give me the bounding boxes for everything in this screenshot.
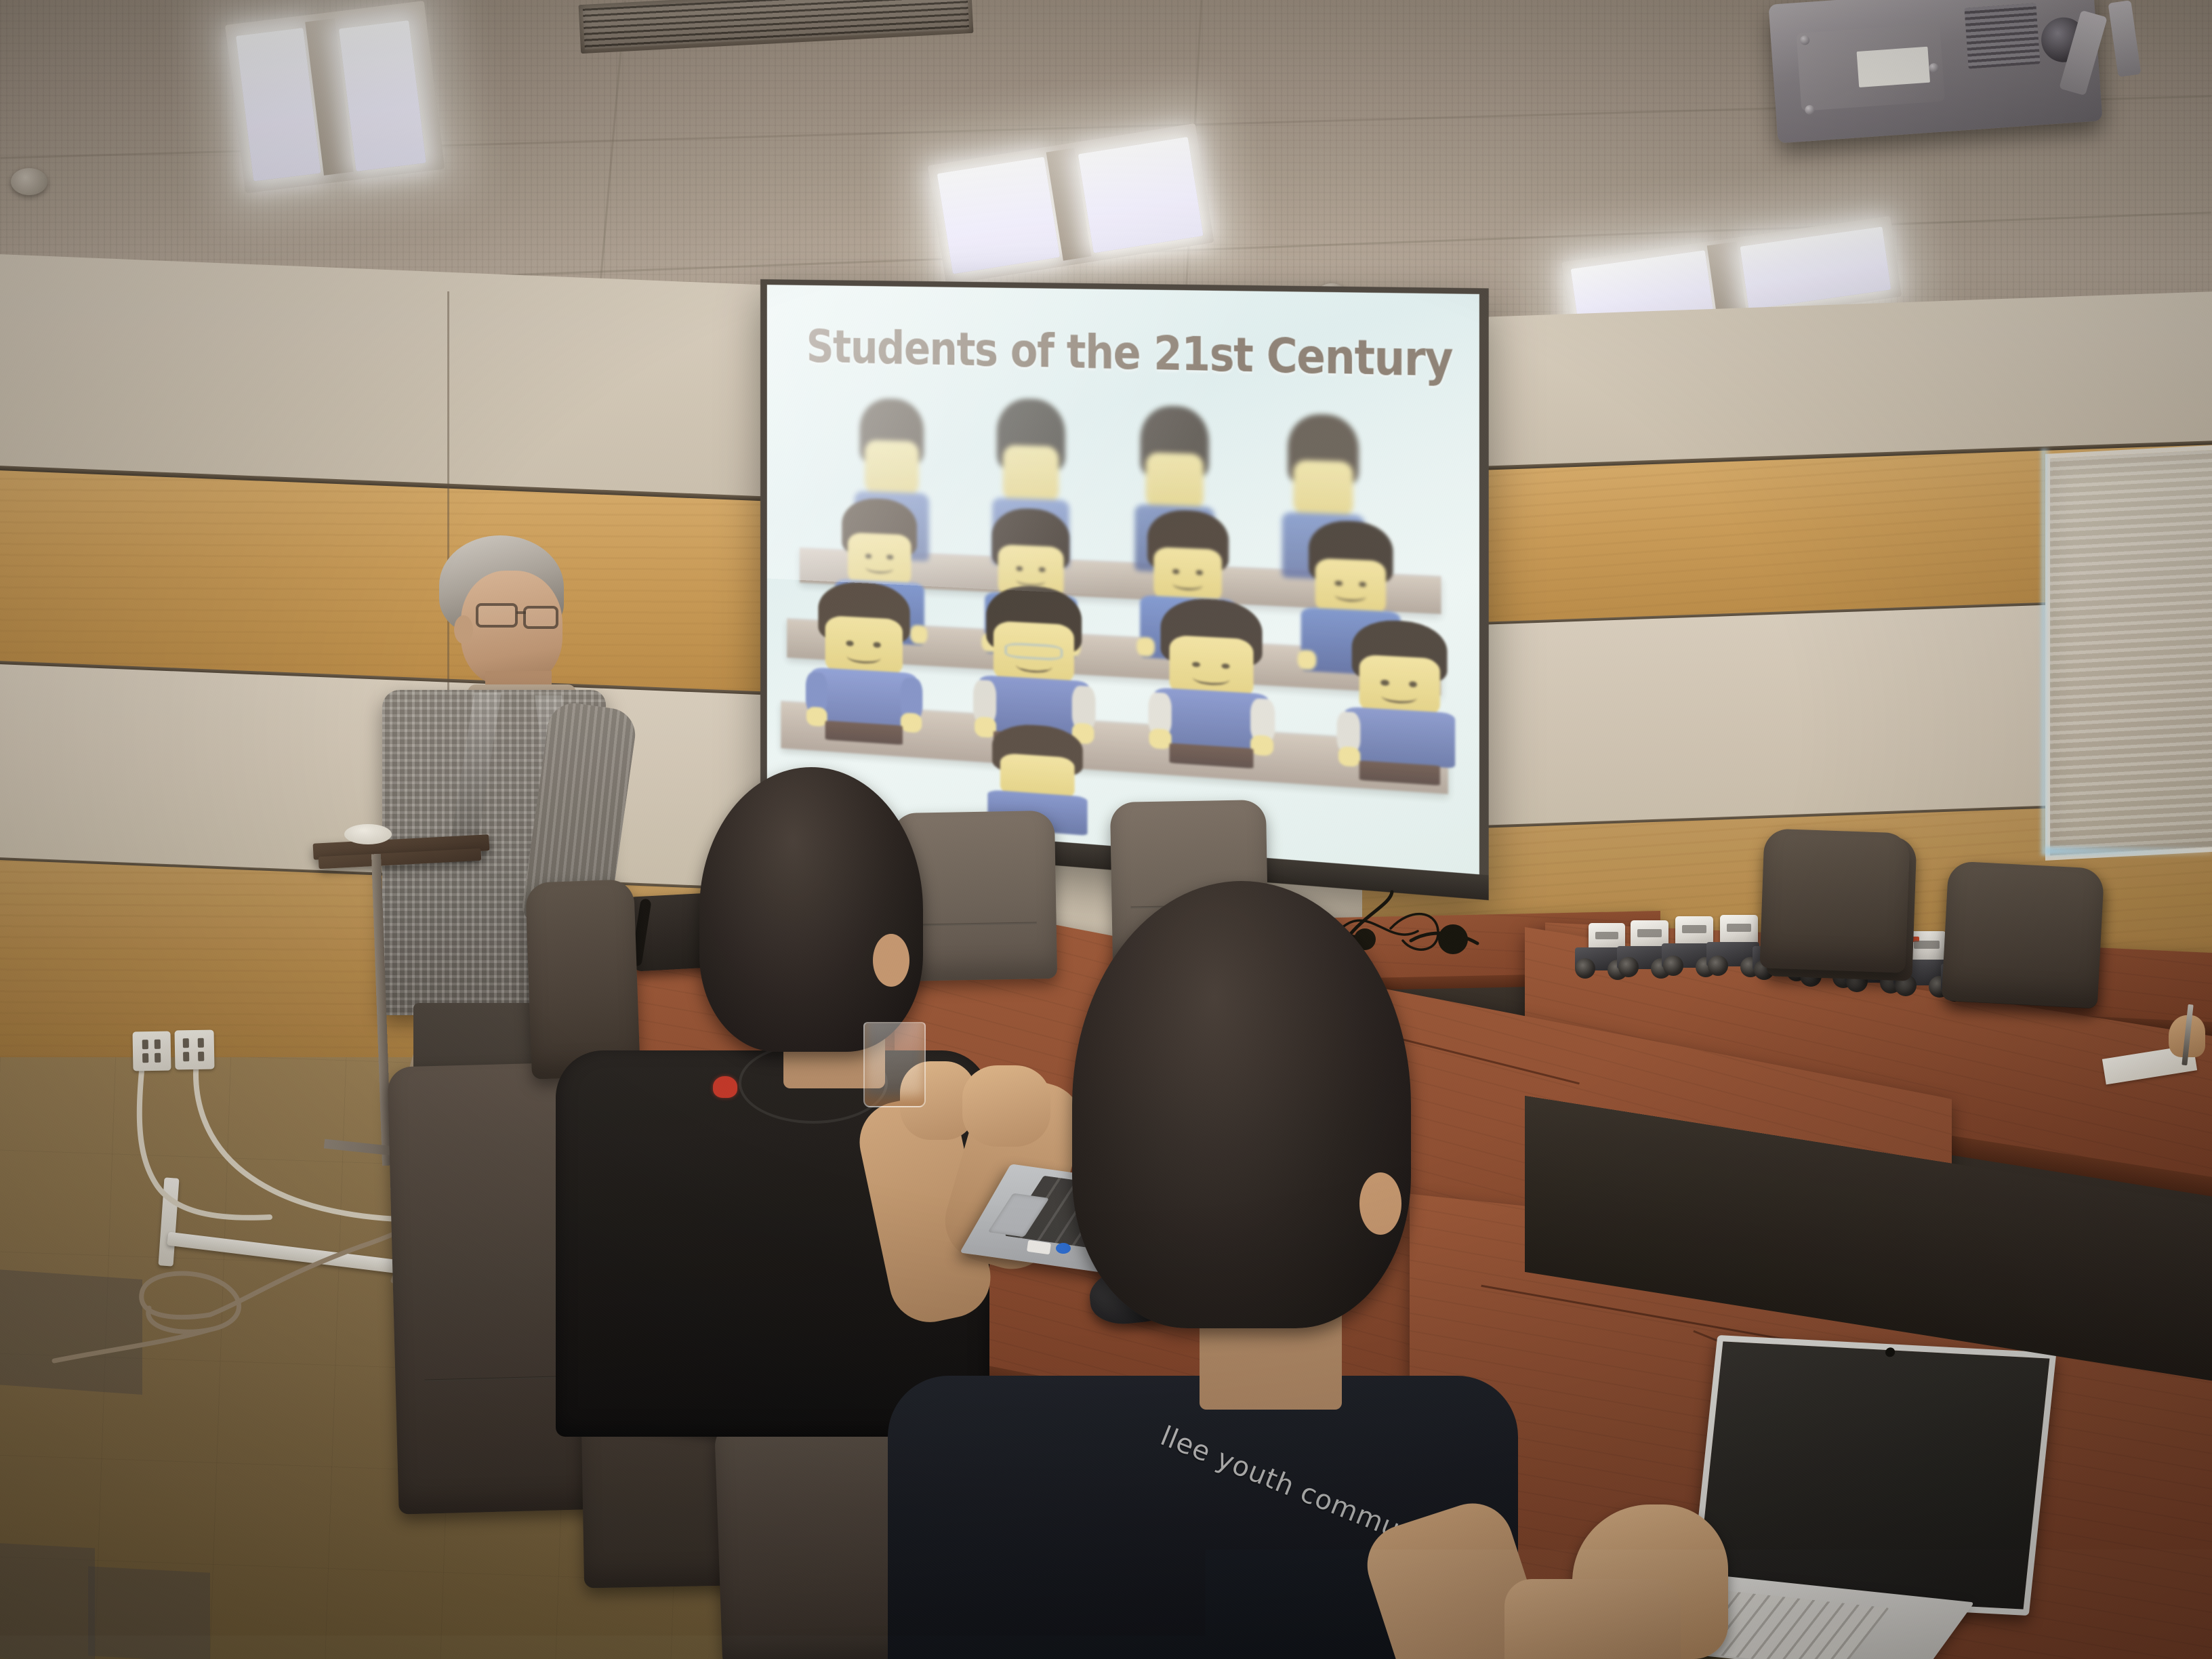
ceiling-light-1 [225,1,445,193]
student-ear [873,934,909,987]
podium-item-mouse[interactable] [344,824,392,844]
lego-minifig [806,579,923,746]
window-light-edge [2045,847,2212,855]
chair-right-2[interactable] [1942,861,2104,1008]
eyeglasses-icon [476,603,518,628]
smoke-detector-icon [11,168,47,195]
slide-title: Students of the 21st Century [806,320,1452,388]
wall-outlet-right[interactable] [174,1029,214,1069]
classroom-photo-scene: Students of the 21st Century [0,0,2212,1659]
webcam-icon [1885,1347,1895,1357]
shirt-logo [713,1076,737,1098]
lego-minifig [1337,618,1463,787]
carpet-tile [88,1566,210,1659]
student-forearm [1504,1579,1681,1659]
projector-label [1856,47,1930,88]
eyeglasses-icon [523,606,558,629]
student-hair [1072,881,1411,1328]
window-blind [2045,443,2212,861]
wall-outlet-left[interactable] [132,1031,171,1071]
white-laptop-screen [1690,1335,2057,1616]
white-laptop[interactable]: ▬▬▬▬ [1690,1328,2097,1659]
presenter-ear [454,615,473,644]
ceiling-projector [1768,0,2102,143]
lego-minifig [1148,596,1275,770]
student-ear [1359,1172,1401,1235]
drinking-glass[interactable] [863,1022,926,1107]
student-navy-tee: llee youth community [976,976,1599,1659]
window-light-edge [2041,449,2049,856]
chair-right-1[interactable] [1759,828,1910,972]
carpet-tile [0,1542,95,1659]
eyeglasses-bridge [516,611,526,614]
student-hair [699,767,923,1052]
